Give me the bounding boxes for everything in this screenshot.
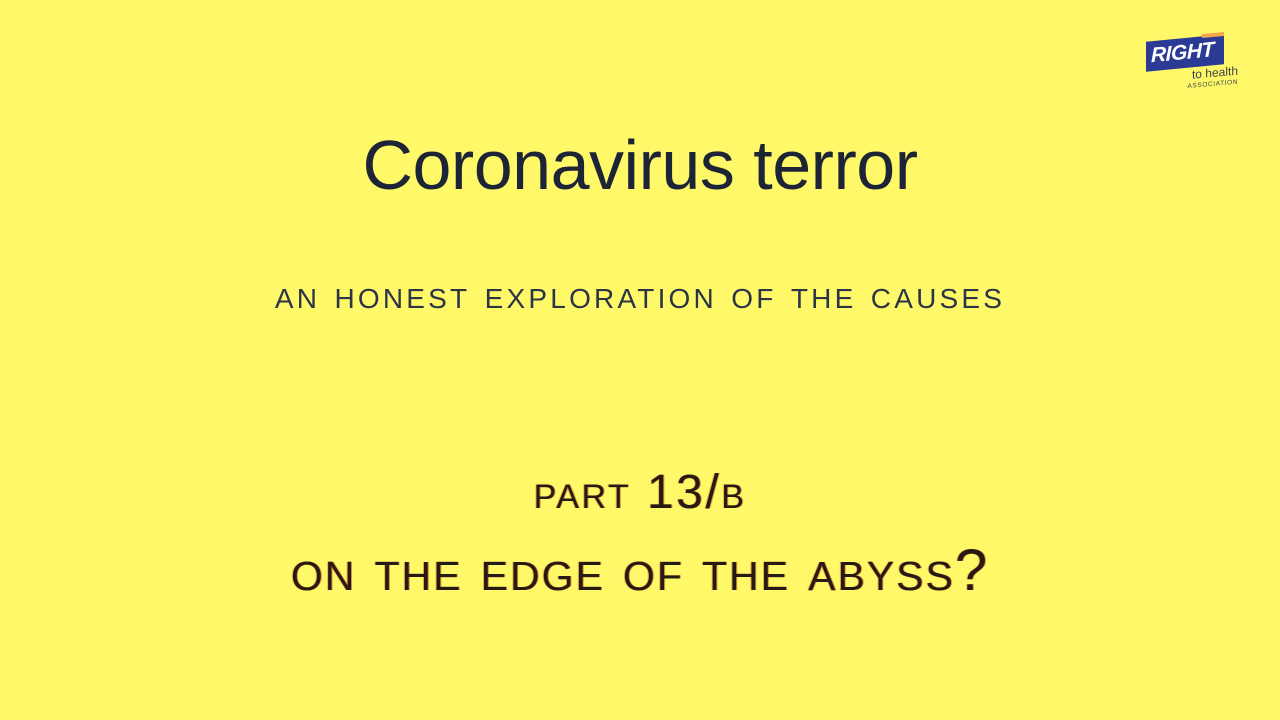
logo-badge-label: RIGHT: [1151, 38, 1214, 68]
right-to-health-logo: RIGHT to health ASSOCIATION: [1142, 32, 1238, 94]
title-slide: RIGHT to health ASSOCIATION Coronavirus …: [0, 0, 1280, 720]
page-title: Coronavirus terror: [0, 122, 1280, 208]
section-heading: On the Edge of the Abyss?: [0, 534, 1280, 608]
part-label: Part 13/B: [0, 462, 1280, 524]
page-subtitle: An honest exploration of the causes: [0, 268, 1280, 322]
